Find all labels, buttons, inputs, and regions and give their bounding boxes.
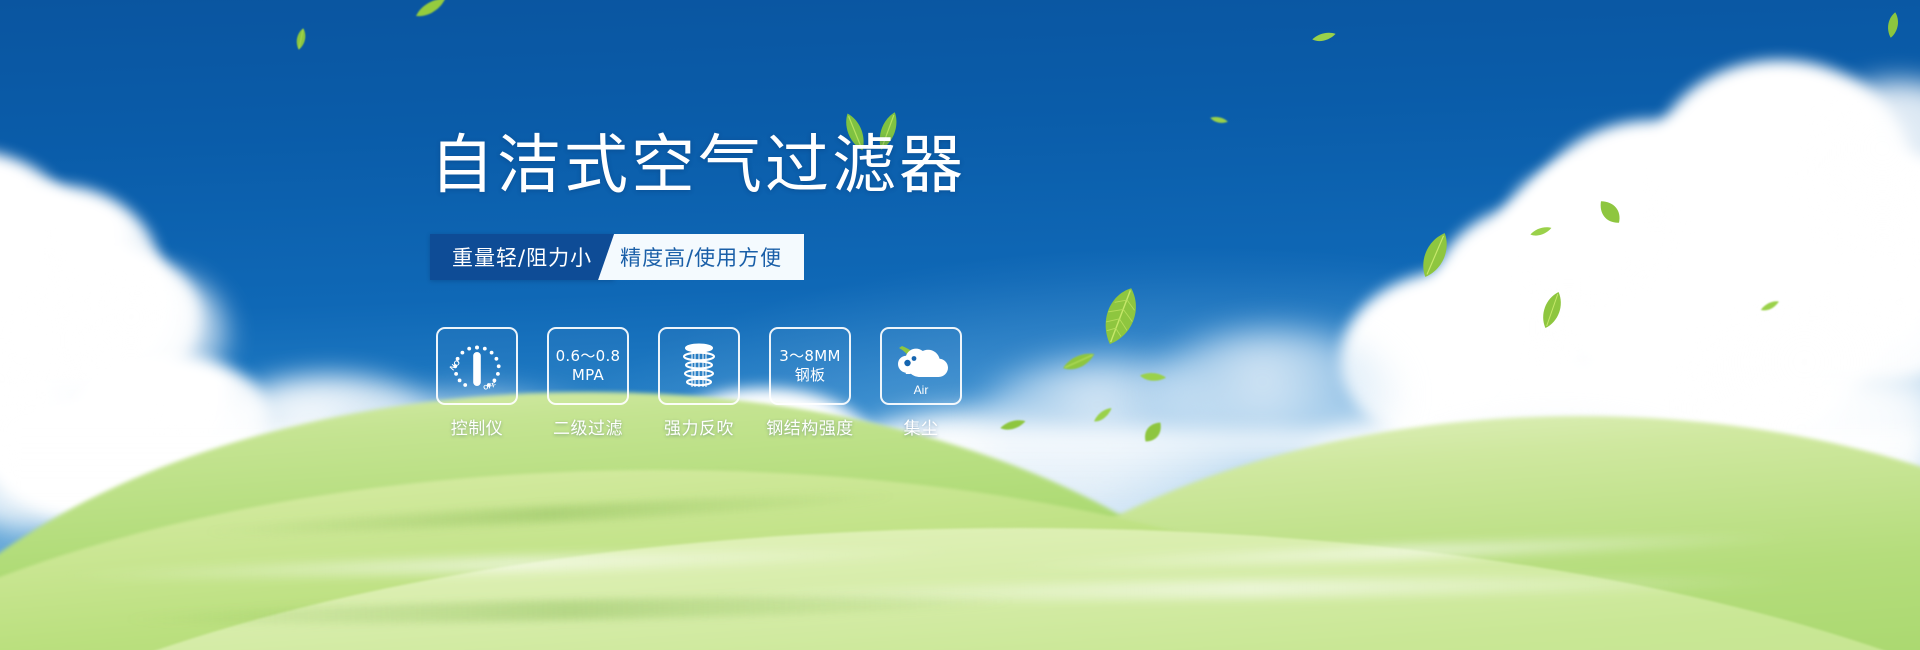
feature-badges: NO OFF 控制仪 0.6～0.8 MPA 二级过滤: [436, 327, 962, 439]
badge-box: Air: [880, 327, 962, 405]
badge-control-instrument[interactable]: NO OFF 控制仪: [436, 327, 518, 439]
page-title: 自洁式空气过滤器: [430, 130, 966, 202]
badge-strong-blowback[interactable]: 强力反吹: [658, 327, 740, 439]
badge-box: [658, 327, 740, 405]
badge-label: 控制仪: [451, 414, 504, 439]
badge-steel-structure-strength[interactable]: 3～8MM 钢板 钢结构强度: [769, 327, 851, 439]
feature-tabs: 重量轻/阻力小 精度高/使用方便: [430, 234, 804, 280]
badge-text-line2: 钢板: [795, 366, 826, 385]
badge-label: 强力反吹: [664, 414, 734, 439]
badge-label: 二级过滤: [553, 414, 623, 439]
tab-weight-resistance[interactable]: 重量轻/阻力小: [430, 234, 614, 280]
badge-dust-collection[interactable]: Air 集尘: [880, 327, 962, 439]
badge-text-line1: 0.6～0.8: [556, 347, 621, 366]
badge-text-line2: MPA: [572, 366, 604, 385]
tab-precision-convenience[interactable]: 精度高/使用方便: [598, 234, 804, 280]
badge-box: NO OFF: [436, 327, 518, 405]
badge-box: 0.6～0.8 MPA: [547, 327, 629, 405]
svg-text:OFF: OFF: [483, 382, 497, 392]
badge-two-stage-filter[interactable]: 0.6～0.8 MPA 二级过滤: [547, 327, 629, 439]
badge-air-text: Air: [882, 383, 960, 397]
banner-content: 自洁式空气过滤器 重量轻/阻力小 精度高/使用方便: [0, 0, 1920, 650]
svg-text:NO: NO: [448, 358, 462, 373]
badge-text-line1: 3～8MM: [779, 347, 840, 366]
badge-box: 3～8MM 钢板: [769, 327, 851, 405]
product-banner: 自洁式空气过滤器 重量轻/阻力小 精度高/使用方便: [0, 0, 1920, 650]
blowback-coil-icon: [668, 337, 730, 395]
badge-label: 钢结构强度: [766, 414, 854, 439]
gauge-dial-icon: NO OFF: [446, 337, 508, 395]
badge-label: 集尘: [904, 414, 939, 439]
